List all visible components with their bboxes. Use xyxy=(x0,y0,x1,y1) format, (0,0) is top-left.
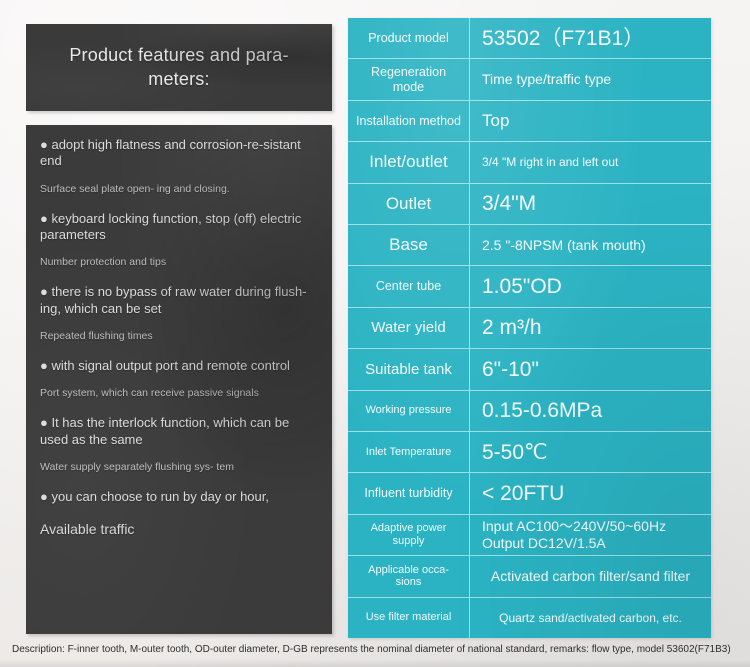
feature-main-text: ● you can choose to run by day or hour, xyxy=(40,489,318,505)
product-spec-page: Product features and para-meters: ● adop… xyxy=(0,0,750,667)
feature-item: ● there is no bypass of raw water during… xyxy=(40,284,318,343)
bottom-image-bleed xyxy=(0,659,750,667)
table-row: Adaptive power supply Input AC100～240V/5… xyxy=(348,515,711,556)
spec-label: Inlet Temperature xyxy=(348,432,470,472)
feature-item: ● adopt high flatness and corrosion-re-s… xyxy=(40,137,318,196)
spec-value: 1.05"OD xyxy=(470,266,711,306)
table-row: Outlet 3/4"M xyxy=(348,184,711,225)
table-row: Applicable occa- sions Activated carbon … xyxy=(348,556,711,597)
spec-label: Base xyxy=(348,225,470,265)
spec-value: 5-50℃ xyxy=(470,432,711,472)
spec-label: Center tube xyxy=(348,266,470,306)
spec-value: < 20FTU xyxy=(470,473,711,513)
spec-value: 2 m³/h xyxy=(470,308,711,348)
spec-value: Time type/traffic type xyxy=(470,59,711,99)
spec-label: Product model xyxy=(348,18,470,58)
table-row: Regeneration mode Time type/traffic type xyxy=(348,59,711,100)
table-row: Use filter material Quartz sand/activate… xyxy=(348,598,711,638)
feature-sub-text: Surface seal plate open- ing and closing… xyxy=(40,183,318,196)
features-header-panel: Product features and para-meters: xyxy=(26,24,332,111)
spec-label: Outlet xyxy=(348,184,470,224)
spec-label: Use filter material xyxy=(348,598,470,638)
feature-item: ● keyboard locking function, stop (off) … xyxy=(40,211,318,270)
spec-label: Influent turbidity xyxy=(348,473,470,513)
table-row: Inlet Temperature 5-50℃ xyxy=(348,432,711,473)
spec-label: Working pressure xyxy=(348,391,470,431)
spec-value: 2.5 "-8NPSM (tank mouth) xyxy=(470,225,711,265)
spec-value: Top xyxy=(470,101,711,141)
feature-sub-text: Number protection and tips xyxy=(40,256,318,269)
specification-table: Product model 53502（F71B1） Regeneration … xyxy=(348,18,711,638)
table-row: Suitable tank 6"-10" xyxy=(348,349,711,390)
feature-sub-text: Port system, which can receive passive s… xyxy=(40,387,318,400)
spec-label: Suitable tank xyxy=(348,349,470,389)
spec-label: Installation method xyxy=(348,101,470,141)
table-row: Center tube 1.05"OD xyxy=(348,266,711,307)
spec-label: Water yield xyxy=(348,308,470,348)
feature-main-text: ● keyboard locking function, stop (off) … xyxy=(40,211,318,244)
feature-sub-text: Water supply separately flushing sys- te… xyxy=(40,461,318,474)
table-row: Product model 53502（F71B1） xyxy=(348,18,711,59)
table-row: Water yield 2 m³/h xyxy=(348,308,711,349)
feature-main-text: ● adopt high flatness and corrosion-re-s… xyxy=(40,137,318,170)
feature-main-text: ● It has the interlock function, which c… xyxy=(40,415,318,448)
feature-sub-text: Repeated flushing times xyxy=(40,330,318,343)
spec-value: 53502（F71B1） xyxy=(470,18,711,58)
feature-item: ● It has the interlock function, which c… xyxy=(40,415,318,474)
spec-value: Activated carbon filter/sand filter xyxy=(470,556,711,596)
spec-label: Inlet/outlet xyxy=(348,142,470,182)
feature-item: ● with signal output port and remote con… xyxy=(40,358,318,400)
features-footer-text: Available traffic xyxy=(40,521,318,538)
features-body-panel: ● adopt high flatness and corrosion-re-s… xyxy=(26,125,332,634)
description-note: Description: F-inner tooth, M-outer toot… xyxy=(12,643,738,657)
table-row: Influent turbidity < 20FTU xyxy=(348,473,711,514)
spec-value: 6"-10" xyxy=(470,349,711,389)
feature-item: ● you can choose to run by day or hour, xyxy=(40,489,318,505)
spec-value: 3/4"M xyxy=(470,184,711,224)
features-header-title: Product features and para-meters: xyxy=(48,44,310,91)
spec-value: 0.15-0.6MPa xyxy=(470,391,711,431)
table-row: Working pressure 0.15-0.6MPa xyxy=(348,391,711,432)
spec-label: Regeneration mode xyxy=(348,59,470,99)
table-row: Inlet/outlet 3/4 "M right in and left ou… xyxy=(348,142,711,183)
feature-main-text: ● with signal output port and remote con… xyxy=(40,358,318,374)
spec-label: Adaptive power supply xyxy=(348,515,470,555)
spec-value: 3/4 "M right in and left out xyxy=(470,142,711,182)
table-row: Base 2.5 "-8NPSM (tank mouth) xyxy=(348,225,711,266)
spec-label: Applicable occa- sions xyxy=(348,556,470,596)
table-row: Installation method Top xyxy=(348,101,711,142)
spec-value: Quartz sand/activated carbon, etc. xyxy=(470,598,711,638)
spec-value: Input AC100～240V/50~60Hz Output DC12V/1.… xyxy=(470,515,711,555)
feature-main-text: ● there is no bypass of raw water during… xyxy=(40,284,318,317)
